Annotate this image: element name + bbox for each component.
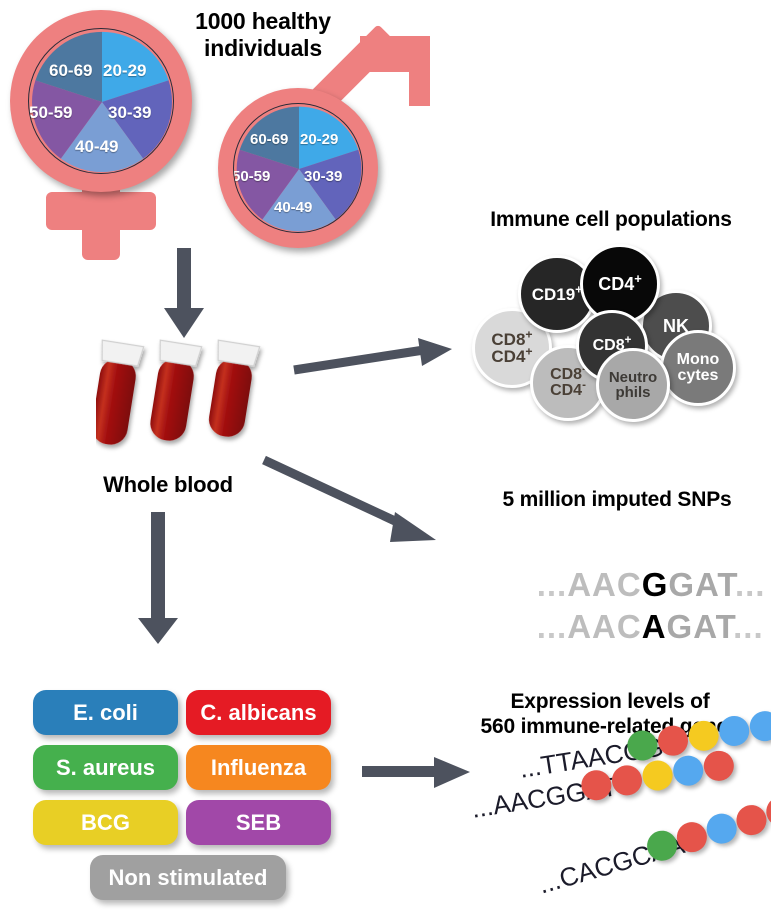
immune-cell-label: CD4+ xyxy=(491,348,532,365)
snp-right: GAT xyxy=(667,608,734,645)
immune-cell-label: Neutro xyxy=(609,370,657,385)
pie-label-20-29: 20-29 xyxy=(103,61,146,81)
rna-dot xyxy=(733,802,770,839)
immune-cell-monocytes: Mono cytes xyxy=(660,330,736,406)
immune-cell-label: cytes xyxy=(678,368,719,384)
male-symbol: 20-29 30-39 40-49 50-59 60-69 xyxy=(210,40,430,255)
rna-dot xyxy=(702,749,736,783)
snp-suffix: ... xyxy=(733,608,764,645)
immune-cell-label: phils xyxy=(615,385,650,400)
pie-label-50-59: 50-59 xyxy=(233,168,270,185)
female-symbol: 20-29 30-39 40-49 50-59 60-69 xyxy=(10,10,200,260)
arrow-blood-to-stimuli xyxy=(132,512,188,646)
female-stem-horizontal xyxy=(46,192,156,230)
pie-label-20-29: 20-29 xyxy=(300,131,338,148)
immune-cell-label: CD4+ xyxy=(598,275,642,293)
stimulus-bcg[interactable]: BCG xyxy=(33,800,178,845)
female-age-pie: 20-29 30-39 40-49 50-59 60-69 xyxy=(28,28,174,174)
blood-tube xyxy=(204,340,260,439)
stimulus-s-aureus[interactable]: S. aureus xyxy=(33,745,178,790)
whole-blood-label: Whole blood xyxy=(78,472,258,498)
blood-tubes xyxy=(96,330,276,475)
immune-cells-heading: Immune cell populations xyxy=(455,208,767,233)
blood-tube xyxy=(145,340,202,443)
immune-cell-label: CD8- xyxy=(550,367,586,383)
arrow-blood-to-snps xyxy=(262,452,452,552)
arrow-blood-to-immune-cells xyxy=(292,336,462,386)
diagram-canvas: 1000 healthy individuals 20-29 30-39 40-… xyxy=(0,0,771,922)
stimulus-seb[interactable]: SEB xyxy=(186,800,331,845)
pie-label-50-59: 50-59 xyxy=(29,103,72,123)
snp-prefix: ... xyxy=(537,608,568,645)
pie-label-30-39: 30-39 xyxy=(304,168,342,185)
pie-label-60-69: 60-69 xyxy=(250,131,288,148)
immune-cell-label: CD19+ xyxy=(532,286,583,303)
rna-dot xyxy=(703,810,740,847)
male-age-pie: 20-29 30-39 40-49 50-59 60-69 xyxy=(233,103,363,233)
snp-sequence-row: ...AACAGAT... xyxy=(496,570,764,684)
pie-label-40-49: 40-49 xyxy=(75,137,118,157)
immune-cell-neutrophils: Neutro phils xyxy=(596,348,670,422)
stimulus-e-coli[interactable]: E. coli xyxy=(33,690,178,735)
arrow-stimuli-to-genes xyxy=(362,755,472,791)
arrow-cohort-to-blood xyxy=(160,248,208,340)
snp-left: AAC xyxy=(567,608,642,645)
stimulus-c-albicans[interactable]: C. albicans xyxy=(186,690,331,735)
pie-label-60-69: 60-69 xyxy=(49,61,92,81)
pie-label-40-49: 40-49 xyxy=(274,199,312,216)
stimulus-non-stimulated[interactable]: Non stimulated xyxy=(90,855,286,900)
snps-heading: 5 million imputed SNPs xyxy=(472,488,762,513)
rna-dot xyxy=(671,754,705,788)
blood-tube xyxy=(96,340,144,447)
pie-label-30-39: 30-39 xyxy=(108,103,151,123)
stimulus-influenza[interactable]: Influenza xyxy=(186,745,331,790)
immune-cell-label: CD4- xyxy=(550,383,586,399)
snp-variant: A xyxy=(642,608,667,645)
immune-cell-label: Mono xyxy=(677,352,720,368)
